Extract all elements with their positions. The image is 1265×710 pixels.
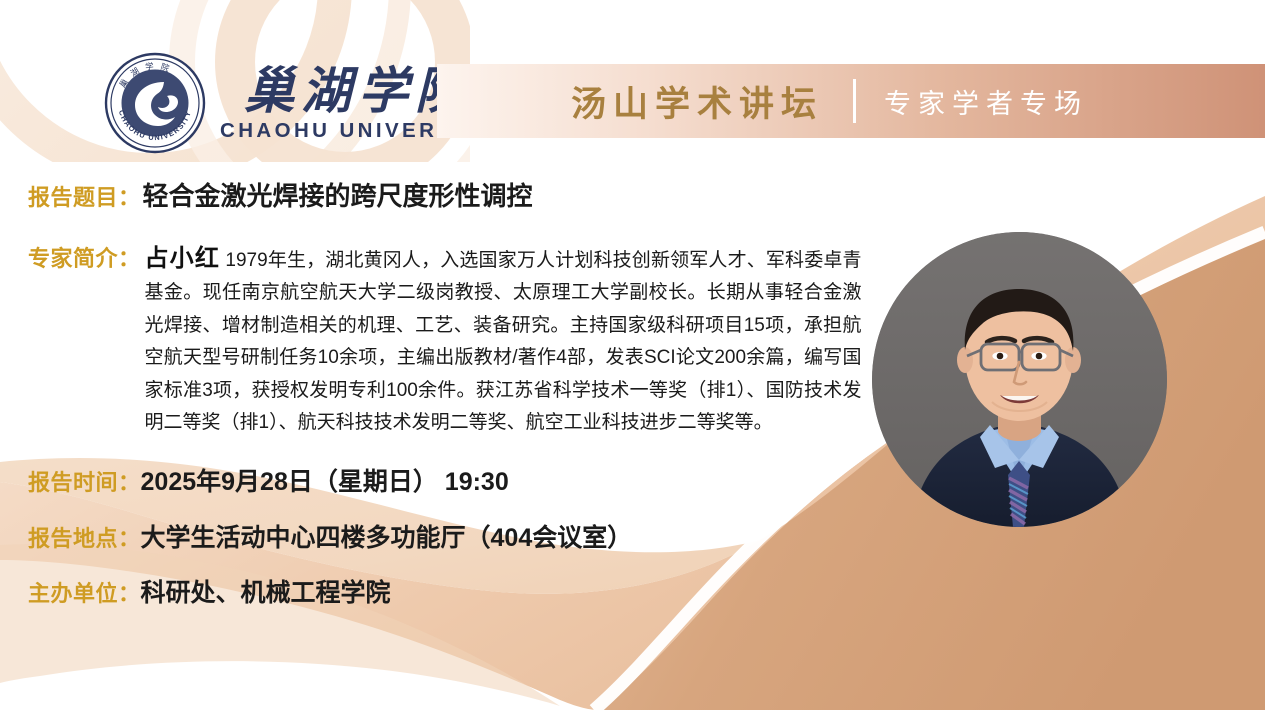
- lecture-title-label: 报告题目：: [28, 180, 141, 212]
- lecture-host-row: 主办单位： 科研处、机械工程学院: [28, 573, 391, 609]
- lecture-host-value: 科研处、机械工程学院: [141, 573, 391, 609]
- speaker-name: 占小红: [145, 245, 220, 272]
- lecture-title-row: 报告题目： 轻合金激光焊接的跨尺度形性调控: [28, 176, 533, 213]
- lecture-place-label: 报告地点：: [28, 521, 141, 553]
- lecture-host-label: 主办单位：: [28, 576, 141, 608]
- poster-root: 1977 巢 湖 学 院 CHAOHU UNIVERSITY 巢湖学院 CHAO…: [0, 0, 1265, 710]
- speaker-bio-body: 占小红 1979年生，湖北黄冈人，入选国家万人计划科技创新领军人才、军科委卓青基…: [145, 243, 862, 439]
- lecture-time-label: 报告时间：: [28, 465, 141, 497]
- speaker-bio-row: 专家简介： 占小红 1979年生，湖北黄冈人，入选国家万人计划科技创新领军人才、…: [28, 243, 888, 439]
- speaker-bio-label: 专家简介：: [28, 243, 141, 275]
- lecture-place-row: 报告地点： 大学生活动中心四楼多功能厅（404会议室）: [28, 518, 632, 554]
- lecture-time-row: 报告时间： 2025年9月28日（星期日） 19:30: [28, 462, 509, 498]
- lecture-place-value: 大学生活动中心四楼多功能厅（404会议室）: [141, 518, 633, 554]
- speaker-bio-text: 1979年生，湖北黄冈人，入选国家万人计划科技创新领军人才、军科委卓青基金。现任…: [145, 250, 862, 433]
- speaker-portrait: [872, 232, 1167, 527]
- lecture-title-value: 轻合金激光焊接的跨尺度形性调控: [143, 176, 533, 213]
- lecture-time-value: 2025年9月28日（星期日） 19:30: [141, 462, 509, 498]
